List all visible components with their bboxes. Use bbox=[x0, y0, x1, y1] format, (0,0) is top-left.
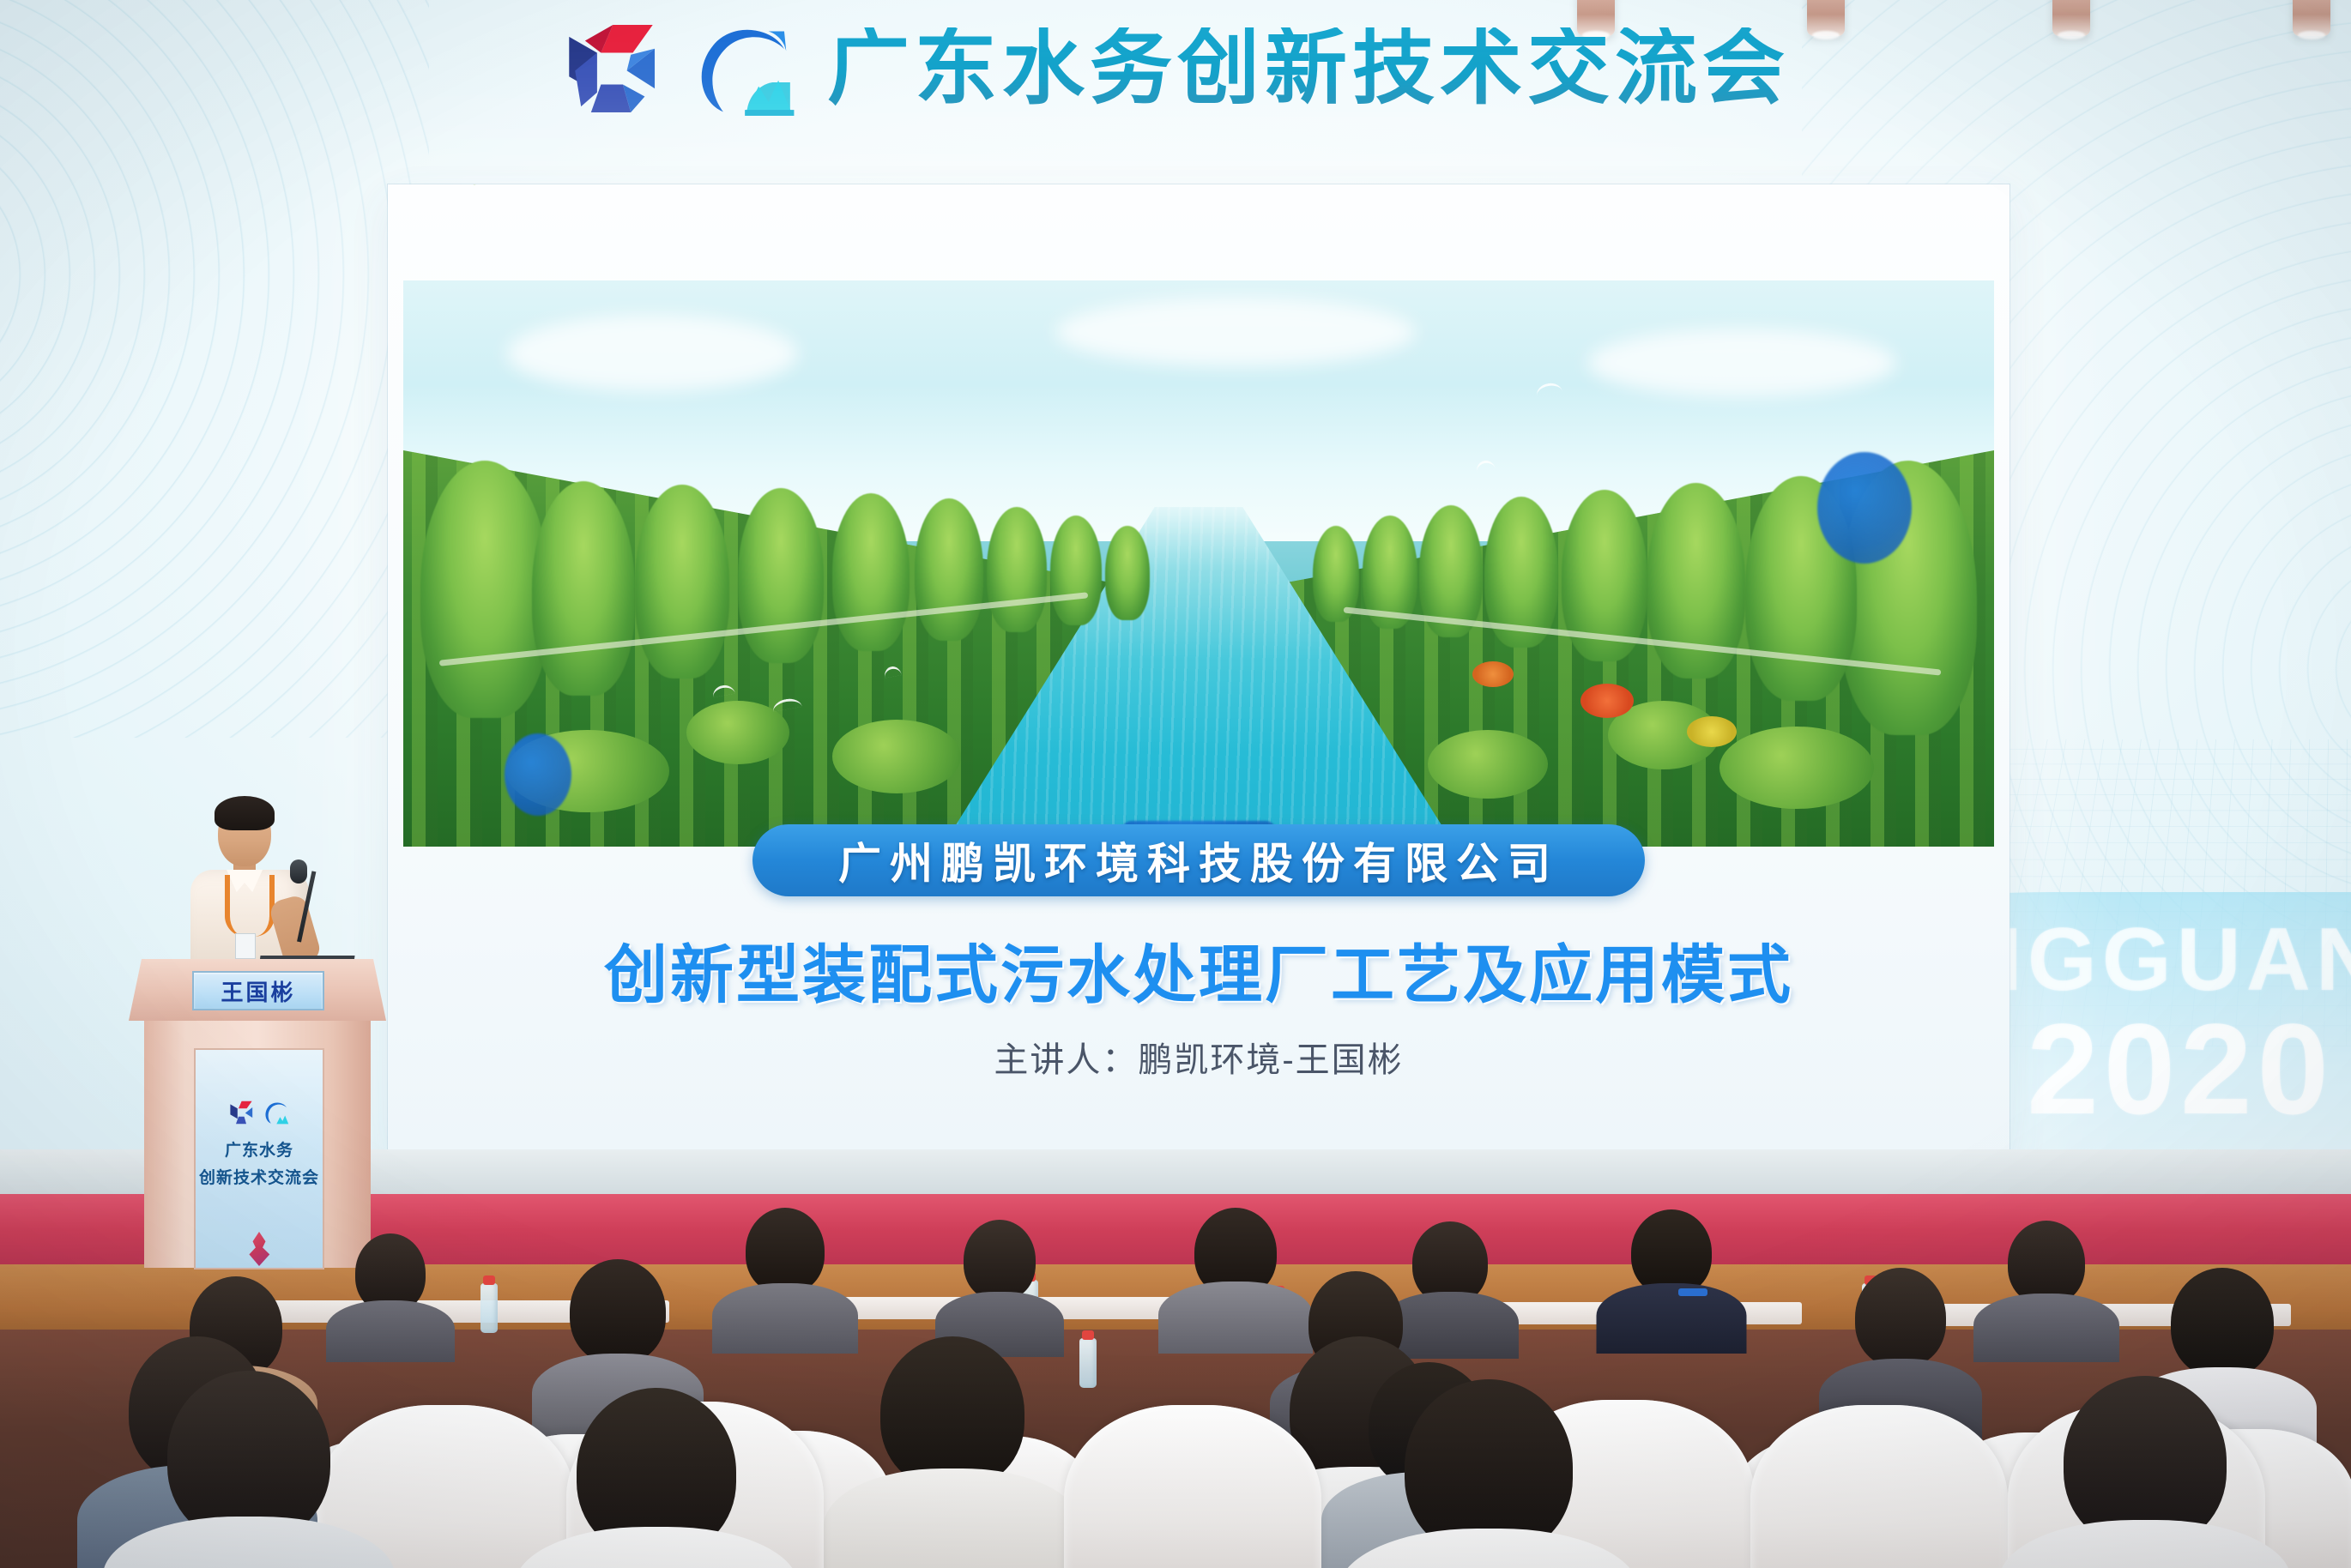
speaker-hair bbox=[215, 796, 275, 830]
company-name: 广州鹏凯环境科技股份有限公司 bbox=[838, 829, 1559, 891]
hero-willow-tree bbox=[420, 461, 549, 718]
podium-panel-line2: 创新技术交流会 bbox=[199, 1165, 319, 1188]
person-head bbox=[880, 1336, 1024, 1489]
hero-flower-bed bbox=[1472, 661, 1514, 687]
projection-screen: 19:21 鹏凯环境 PENGKAI ENVIRONMENT bbox=[388, 184, 2010, 1154]
hero-shrub bbox=[832, 720, 961, 793]
person-head bbox=[1855, 1268, 1946, 1367]
audience-person bbox=[326, 1233, 455, 1362]
podium-panel-logos bbox=[228, 1100, 290, 1125]
water-bottle bbox=[480, 1283, 498, 1333]
audience-person bbox=[1999, 1376, 2291, 1568]
hero-willow-tree bbox=[532, 481, 635, 696]
pengkai-swirl-logo-icon bbox=[431, 184, 513, 190]
audience-chair bbox=[1064, 1405, 1321, 1568]
person-shoulders bbox=[1596, 1283, 1746, 1354]
person-shoulders bbox=[103, 1517, 395, 1568]
water-bottle bbox=[1079, 1338, 1097, 1388]
presentation-slide: 19:21 鹏凯环境 PENGKAI ENVIRONMENT bbox=[388, 184, 2010, 1154]
person-head bbox=[746, 1208, 825, 1294]
hero-willow-tree bbox=[1050, 516, 1102, 625]
podium-panel-line1: 广东水务 bbox=[225, 1137, 293, 1161]
person-shoulders bbox=[1339, 1529, 1639, 1568]
person-head bbox=[1631, 1209, 1712, 1295]
podium-aperture-logo-icon bbox=[228, 1100, 254, 1125]
hero-cloud bbox=[1587, 329, 1896, 397]
guangdong-g-wave-logo-icon bbox=[690, 19, 798, 118]
person-head bbox=[964, 1220, 1036, 1300]
hero-shrub bbox=[1719, 727, 1874, 809]
guangdong-water-aperture-logo-icon bbox=[561, 19, 661, 118]
event-header-banner: 广东水务创新技术交流会 bbox=[0, 9, 2351, 129]
hero-willow-tree bbox=[635, 485, 729, 678]
hero-cloud bbox=[1055, 298, 1416, 366]
hero-shrub bbox=[1428, 730, 1548, 799]
audience-chair bbox=[1750, 1405, 2008, 1568]
conference-photo: DONGGUAN 2020 bbox=[0, 0, 2351, 1568]
speaker-lanyard bbox=[225, 875, 275, 937]
audience-area bbox=[0, 1201, 2351, 1568]
podium-top: 王国彬 bbox=[129, 959, 386, 1021]
audience-person bbox=[1973, 1221, 2119, 1362]
hero-willow-tree bbox=[987, 507, 1047, 632]
attendee-lanyard-badge bbox=[1678, 1288, 1707, 1296]
hero-bokeh-circle bbox=[1817, 452, 1912, 564]
slide-hero-image bbox=[403, 280, 1994, 847]
audience-person bbox=[103, 1371, 395, 1568]
slide-presenter-line: 主讲人：鹏凯环境-王国彬 bbox=[994, 1032, 1403, 1082]
audience-person bbox=[1339, 1379, 1639, 1568]
company-name-ribbon: 广州鹏凯环境科技股份有限公司 bbox=[752, 824, 1645, 896]
person-head bbox=[2171, 1268, 2274, 1378]
microphone-icon bbox=[290, 859, 307, 884]
person-head bbox=[570, 1259, 666, 1364]
podium-g-wave-logo-icon bbox=[263, 1100, 290, 1125]
podium-nameplate: 王国彬 bbox=[192, 971, 324, 1010]
audience-person bbox=[712, 1208, 858, 1354]
hero-bokeh-circle bbox=[505, 733, 571, 816]
person-shoulders bbox=[515, 1527, 798, 1568]
hero-willow-tree bbox=[832, 493, 910, 651]
hero-willow-tree bbox=[915, 498, 983, 641]
person-head bbox=[2008, 1221, 2085, 1305]
hero-flower-bed bbox=[1580, 684, 1634, 718]
speaker-badge bbox=[235, 933, 256, 959]
hero-willow-tree bbox=[1105, 526, 1150, 620]
person-shoulders bbox=[1973, 1294, 2119, 1362]
hero-willow-tree bbox=[738, 488, 824, 663]
audience-person bbox=[515, 1388, 798, 1568]
hero-flower-bed bbox=[1687, 716, 1737, 747]
nameplate-text: 王国彬 bbox=[221, 975, 295, 1007]
person-shoulders bbox=[1999, 1520, 2291, 1568]
audience-person bbox=[1596, 1209, 1746, 1354]
pengkai-brand-lockup: 鹏凯环境 PENGKAI ENVIRONMENT bbox=[431, 184, 831, 190]
event-title: 广东水务创新技术交流会 bbox=[827, 27, 1790, 110]
person-shoulders bbox=[326, 1300, 455, 1362]
slide-main-title: 创新型装配式污水处理厂工艺及应用模式 bbox=[604, 924, 1793, 1016]
speaker-person bbox=[168, 796, 331, 976]
person-shoulders bbox=[824, 1468, 1081, 1568]
audience-person bbox=[824, 1336, 1081, 1568]
backdrop-year-text: 2020 bbox=[2027, 995, 2334, 1143]
hero-cloud bbox=[506, 315, 798, 392]
